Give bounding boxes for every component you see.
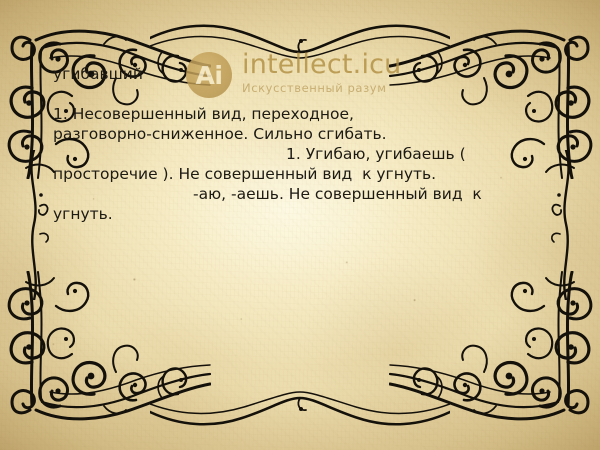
entry-line-1: 1. Несовершенный вид, переходное, [53, 104, 553, 124]
entry-line-4: просторечие ). Не совершенный вид к угну… [53, 164, 553, 184]
entry-line-6: угнуть. [53, 204, 553, 224]
entry-line-5: -аю, -аешь. Не совершенный вид к [53, 184, 553, 204]
entry-line-3: 1. Угибаю, угибаешь ( [53, 144, 553, 164]
entry-headword: угибавший [53, 64, 553, 84]
dictionary-entry: угибавший 1. Несовершенный вид, переходн… [53, 64, 553, 224]
parchment-page: Ai intellect.icu Искусственный разум уги… [0, 0, 600, 450]
entry-line-2: разговорно-сниженное. Сильно сгибать. [53, 124, 553, 144]
entry-spacer [53, 84, 553, 104]
